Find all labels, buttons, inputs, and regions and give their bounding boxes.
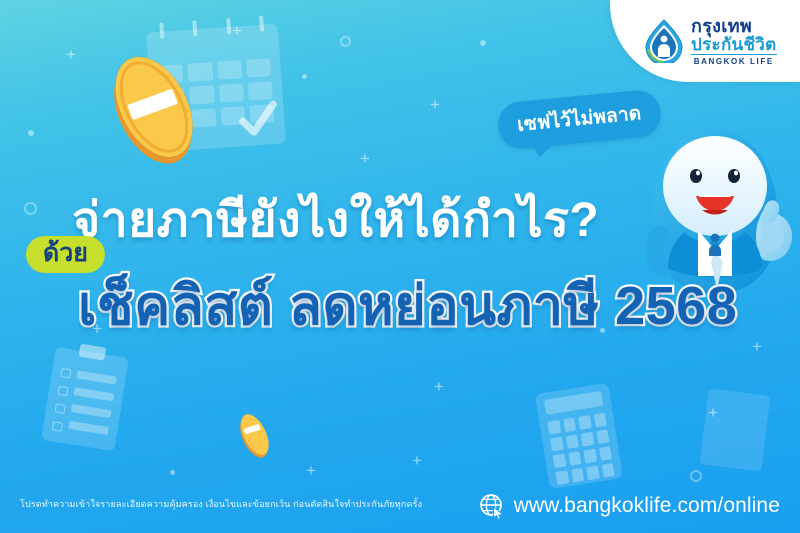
logo-name-th-line2: ประกันชีวิต <box>691 36 777 55</box>
dot-icon <box>480 40 486 46</box>
plus-sparkle-icon: + <box>434 378 444 395</box>
globe-cursor-icon <box>479 493 505 519</box>
ring-outline-icon <box>340 36 351 47</box>
gold-coin-icon <box>94 48 214 166</box>
logo-name-en: BANGKOK LIFE <box>691 58 777 66</box>
plus-sparkle-icon: + <box>708 404 718 421</box>
headline-line-2: เช็คลิสต์ ลดหย่อนภาษี 2568 <box>78 262 737 348</box>
clipboard-checklist-icon <box>41 347 129 451</box>
calculator-icon <box>535 383 623 489</box>
website-url-text: www.bangkoklife.com/online <box>514 494 780 518</box>
plus-sparkle-icon: + <box>360 150 370 167</box>
logo-name-th-line1: กรุงเทพ <box>691 17 777 35</box>
dot-icon <box>170 470 175 475</box>
plus-sparkle-icon: + <box>232 22 242 39</box>
document-icon <box>700 389 771 472</box>
ring-outline-icon <box>690 470 702 482</box>
ring-outline-icon <box>24 202 37 215</box>
check-mark-icon <box>235 98 280 143</box>
plus-sparkle-icon: + <box>412 452 422 469</box>
headline-line-1: จ่ายภาษียังไงให้ได้กำไร? <box>72 182 599 258</box>
plus-sparkle-icon: + <box>430 96 440 113</box>
website-url-bar[interactable]: www.bangkoklife.com/online <box>479 493 780 519</box>
promotional-banner: + + + + + + + + + + <box>0 0 800 533</box>
brand-logo[interactable]: กรุงเทพ ประกันชีวิต BANGKOK LIFE <box>610 0 800 82</box>
disclaimer-text: โปรดทำความเข้าใจรายละเอียดความคุ้มครอง เ… <box>20 497 422 511</box>
calendar-check-icon <box>146 24 286 153</box>
plus-sparkle-icon: + <box>306 462 316 479</box>
bangkok-life-droplet-person-icon <box>644 19 684 63</box>
plus-sparkle-icon: + <box>752 338 762 355</box>
dot-icon <box>302 74 307 79</box>
dot-icon <box>28 130 34 136</box>
gold-coin-small-icon <box>228 410 280 460</box>
plus-sparkle-icon: + <box>66 46 76 63</box>
